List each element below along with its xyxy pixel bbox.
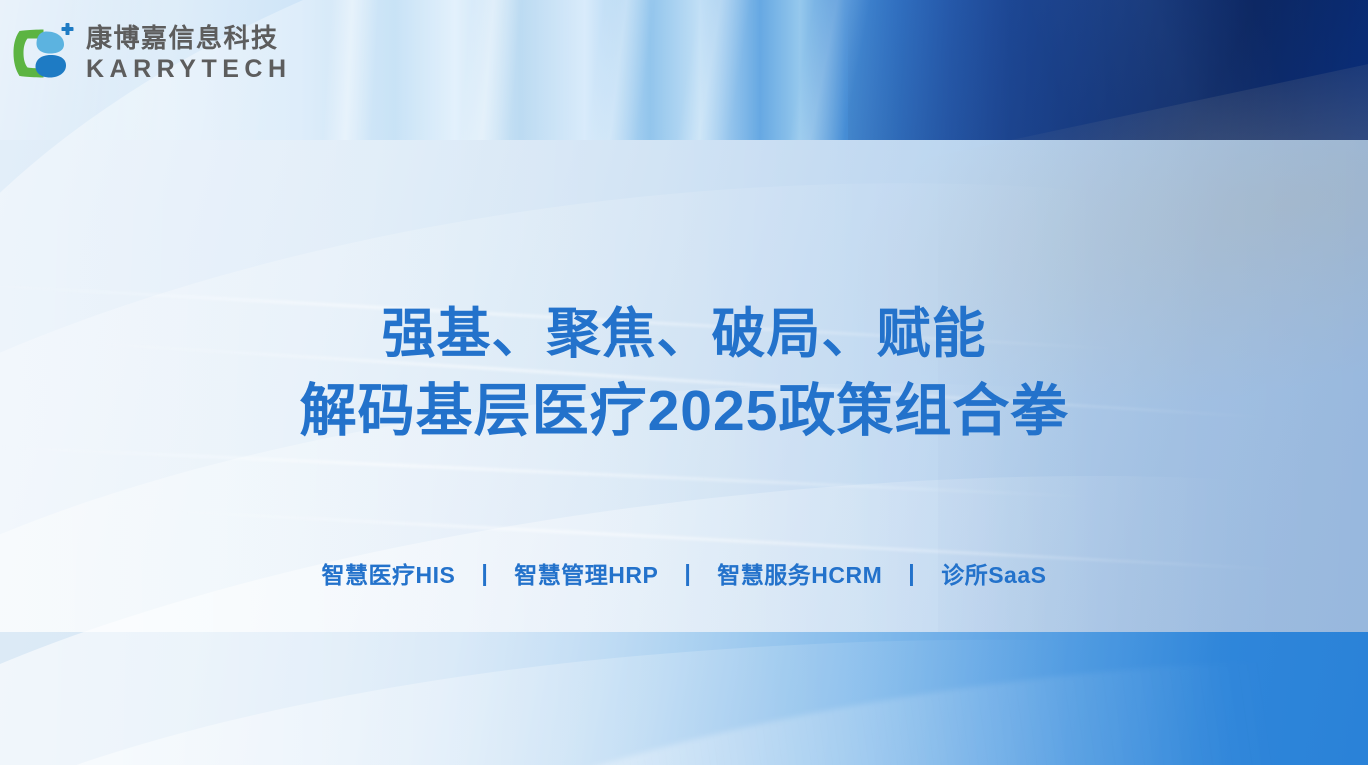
brand-text-block: 康博嘉信息科技 KARRYTECH bbox=[86, 25, 292, 82]
tagline-separator-1: | bbox=[455, 560, 514, 587]
page-title-line-1: 强基、聚焦、破局、赋能 bbox=[0, 300, 1368, 369]
page-title: 强基、聚焦、破局、赋能 解码基层医疗2025政策组合拳 bbox=[0, 300, 1368, 448]
tagline-item-hrp: 智慧管理HRP bbox=[514, 556, 658, 590]
tagline-item-his: 智慧医疗HIS bbox=[322, 556, 456, 590]
tagline-separator-2: | bbox=[658, 560, 717, 587]
brand-name-en: KARRYTECH bbox=[86, 57, 292, 82]
page-title-line-2: 解码基层医疗2025政策组合拳 bbox=[0, 375, 1368, 448]
tagline-item-hcrm: 智慧服务HCRM bbox=[717, 556, 882, 590]
karrytech-logo-icon bbox=[10, 22, 76, 84]
tagline-separator-3: | bbox=[882, 560, 941, 587]
brand-name-cn: 康博嘉信息科技 bbox=[86, 25, 292, 51]
slide-canvas: 康博嘉信息科技 KARRYTECH 强基、聚焦、破局、赋能 解码基层医疗2025… bbox=[0, 0, 1368, 765]
product-tagline: 智慧医疗HIS | 智慧管理HRP | 智慧服务HCRM | 诊所SaaS bbox=[0, 556, 1368, 590]
brand-logo-block[interactable]: 康博嘉信息科技 KARRYTECH bbox=[10, 22, 292, 84]
background-band-bottom bbox=[0, 632, 1368, 765]
tagline-item-saas: 诊所SaaS bbox=[941, 556, 1046, 590]
